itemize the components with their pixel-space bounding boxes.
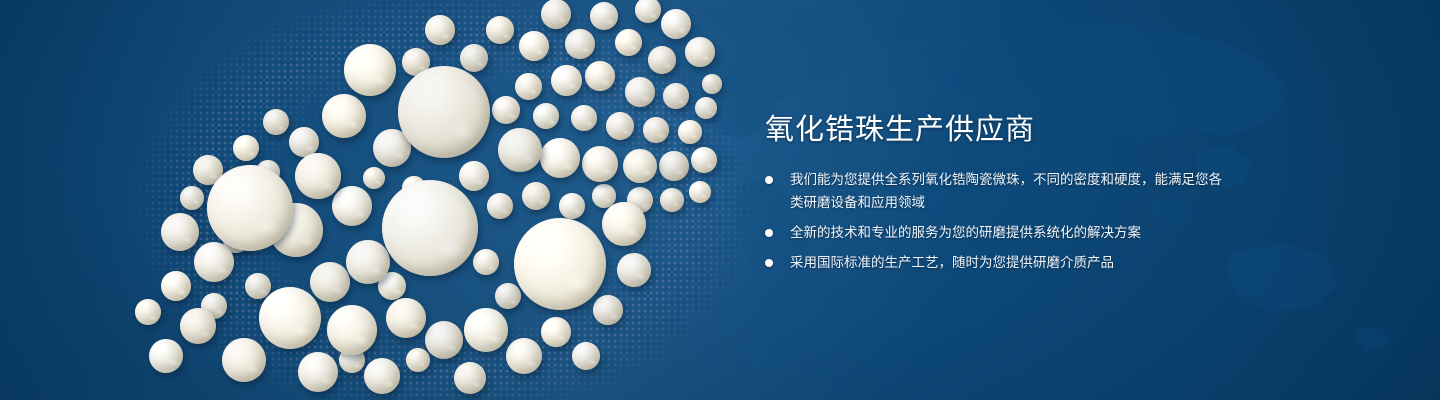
list-item: 采用国际标准的生产工艺，随时为您提供研磨介质产品	[765, 251, 1235, 274]
bullet-text: 我们能为您提供全系列氧化锆陶瓷微珠，不同的密度和硬度，能满足您各类研磨设备和应用…	[790, 168, 1235, 214]
banner-content: 氧化锆珠生产供应商 我们能为您提供全系列氧化锆陶瓷微珠，不同的密度和硬度，能满足…	[765, 0, 1405, 400]
bullet-text: 全新的技术和专业的服务为您的研磨提供系统化的解决方案	[790, 221, 1235, 244]
bullet-text: 采用国际标准的生产工艺，随时为您提供研磨介质产品	[790, 251, 1235, 274]
hero-banner: 氧化锆珠生产供应商 我们能为您提供全系列氧化锆陶瓷微珠，不同的密度和硬度，能满足…	[0, 0, 1440, 400]
bullet-dot-icon	[765, 259, 773, 267]
banner-headline: 氧化锆珠生产供应商	[765, 106, 1035, 148]
list-item: 我们能为您提供全系列氧化锆陶瓷微珠，不同的密度和硬度，能满足您各类研磨设备和应用…	[765, 168, 1235, 214]
list-item: 全新的技术和专业的服务为您的研磨提供系统化的解决方案	[765, 221, 1235, 244]
banner-feature-list: 我们能为您提供全系列氧化锆陶瓷微珠，不同的密度和硬度，能满足您各类研磨设备和应用…	[765, 168, 1235, 274]
bullet-dot-icon	[765, 229, 773, 237]
bullet-dot-icon	[765, 176, 773, 184]
